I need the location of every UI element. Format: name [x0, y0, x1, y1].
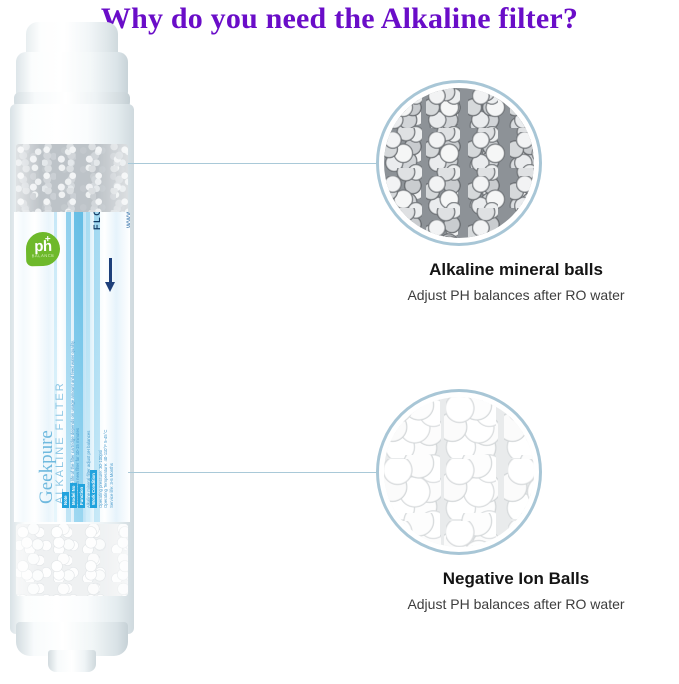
- callout-subtext: Adjust PH balances after RO water: [376, 287, 656, 303]
- spec-line: Operating Temperature: 40-110°F 5-45°C: [103, 429, 109, 508]
- flow-label: FLOW: [92, 212, 102, 230]
- callout-alkaline-mineral-balls: Alkaline mineral balls Adjust PH balance…: [376, 80, 656, 280]
- label-spec-work-condition: Work Condition Operating pressure: 30-10…: [90, 429, 114, 508]
- product-label: + ph BALANCE FLOW www.geekpure.co Geekpu…: [14, 212, 130, 522]
- spec-heading: Work Condition: [90, 470, 97, 508]
- leader-line-to-ion-callout: [128, 472, 383, 473]
- media-photo-circle: [376, 80, 542, 246]
- callout-subtext: Adjust PH balances after RO water: [376, 596, 656, 612]
- website-text: www.geekpure.co: [124, 212, 130, 228]
- media-photo-circle: [376, 389, 542, 555]
- infographic-canvas: Why do you need the Alkaline filter? + p…: [0, 0, 679, 684]
- leader-line-to-alkaline-callout: [128, 163, 383, 164]
- spec-heading: Note: [62, 492, 69, 508]
- grey-granule-photo: [384, 88, 534, 238]
- spec-heading: Model No: [70, 483, 77, 508]
- filter-top-cap: [26, 22, 118, 56]
- white-ball-photo: [384, 397, 534, 547]
- spec-heading: Function: [78, 484, 85, 508]
- callout-heading: Alkaline mineral balls: [376, 260, 656, 280]
- filter-outlet-nozzle: [48, 650, 96, 672]
- callout-negative-ion-balls: Negative Ion Balls Adjust PH balances af…: [376, 389, 656, 609]
- callout-heading: Negative Ion Balls: [376, 569, 656, 589]
- ph-badge-subtext: BALANCE: [26, 253, 60, 259]
- white-ion-media-fill: [16, 524, 128, 596]
- product-image-alkaline-filter: + ph BALANCE FLOW www.geekpure.co Geekpu…: [8, 22, 136, 672]
- spec-line: Service life: 3-6 Months: [109, 429, 115, 508]
